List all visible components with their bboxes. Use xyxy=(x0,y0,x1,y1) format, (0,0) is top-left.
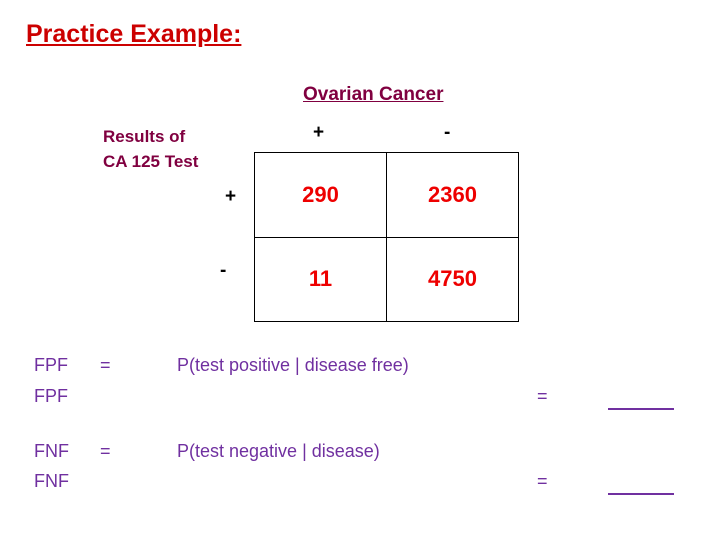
column-label-negative: - xyxy=(444,122,450,144)
column-label-positive: + xyxy=(313,122,324,144)
cell-false-positive: 2360 xyxy=(387,153,519,238)
page-title-text: Practice Example: xyxy=(26,20,241,48)
fnf-label-1: FNF xyxy=(34,441,69,462)
row-group-header-line1: Results of xyxy=(103,124,198,149)
page-title: Practice Example: xyxy=(26,20,241,49)
fnf-equals-2: = xyxy=(537,471,548,492)
fnf-answer-blank xyxy=(608,493,674,495)
table-row: 11 4750 xyxy=(255,237,519,322)
row-label-positive: + xyxy=(225,186,236,208)
fpf-equals-1: = xyxy=(100,355,111,376)
row-group-header: Results of CA 125 Test xyxy=(103,124,198,174)
fpf-expression-1: P(test positive | disease free) xyxy=(177,355,409,376)
cell-true-negative: 4750 xyxy=(387,237,519,322)
row-group-header-line2: CA 125 Test xyxy=(103,149,198,174)
column-group-header: Ovarian Cancer xyxy=(303,84,443,106)
cell-true-positive: 290 xyxy=(255,153,387,238)
contingency-table: 290 2360 11 4750 xyxy=(254,152,519,322)
fpf-label-1: FPF xyxy=(34,355,68,376)
fpf-label-2: FPF xyxy=(34,386,68,407)
fpf-answer-blank xyxy=(608,408,674,410)
row-label-negative: - xyxy=(220,260,226,282)
fnf-label-2: FNF xyxy=(34,471,69,492)
fnf-expression-1: P(test negative | disease) xyxy=(177,441,380,462)
cell-false-negative: 11 xyxy=(255,237,387,322)
table-row: 290 2360 xyxy=(255,153,519,238)
fnf-equals-1: = xyxy=(100,441,111,462)
slide-canvas: Practice Example: Ovarian Cancer Results… xyxy=(0,0,720,540)
fpf-equals-2: = xyxy=(537,386,548,407)
